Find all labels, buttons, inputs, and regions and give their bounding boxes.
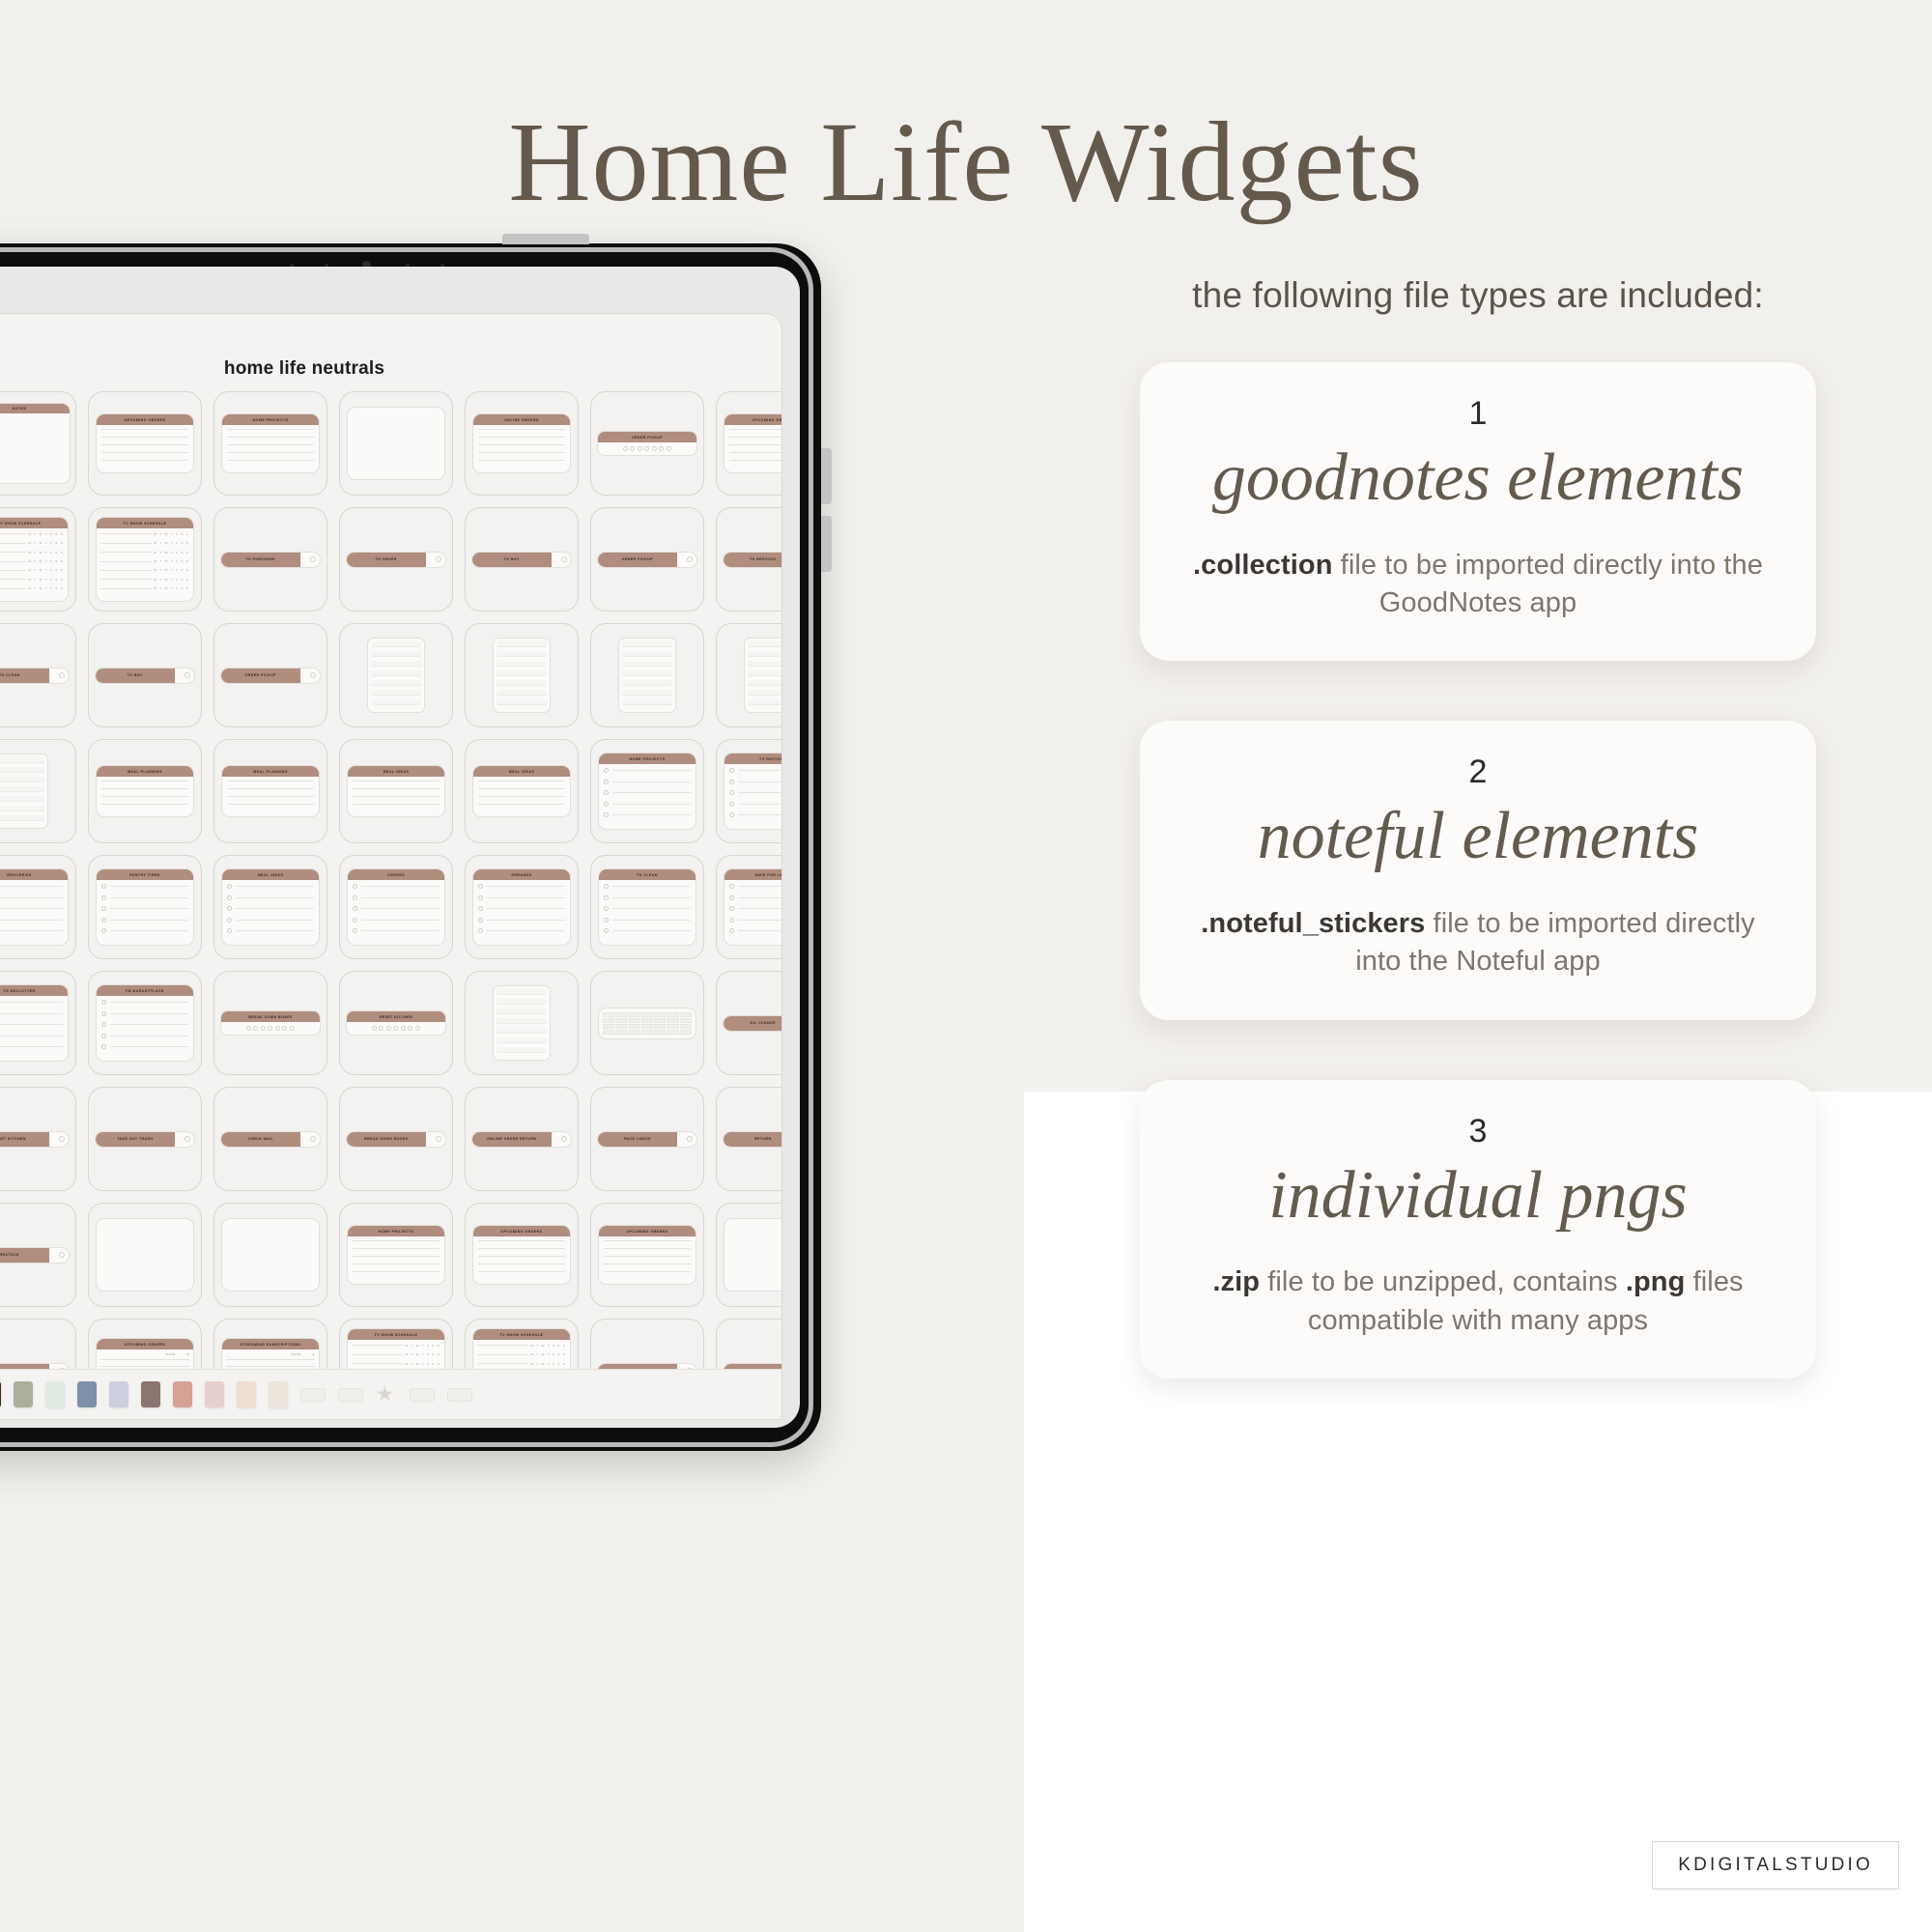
- widget-row: ONLINE ORDERS TO ORDER UPCOMING ORDERS D…: [0, 1319, 781, 1369]
- widget-cell[interactable]: UPCOMING ORDERS: [590, 1203, 704, 1307]
- card-description: .collection file to be imported directly…: [1179, 547, 1777, 623]
- widget-card[interactable]: TV SHOW SCHEDULE M T W T F S SM T W T F …: [472, 1328, 571, 1369]
- card-desc-strong2: .png: [1626, 1266, 1686, 1297]
- widget-grid: NOTES NOTES UPCOMING ORDERS HOME PROJECT…: [0, 387, 781, 1369]
- widget-cell[interactable]: [590, 971, 704, 1075]
- widget-lines: [348, 777, 444, 816]
- swatch-lavender[interactable]: [109, 1381, 128, 1407]
- widget-label: MEAL IDEAS: [222, 869, 319, 880]
- widget-checklist: [724, 880, 781, 945]
- widget-label: ORDER PICKUP: [598, 553, 677, 567]
- widget-card[interactable]: ONLINE ORDERS: [472, 413, 571, 473]
- widget-cell[interactable]: TO CLEAN: [590, 855, 704, 959]
- card-number: 3: [1179, 1113, 1777, 1151]
- widget-checkbox[interactable]: [687, 556, 693, 562]
- star-icon[interactable]: ★: [376, 1384, 397, 1405]
- widget-label: CHORES: [348, 869, 444, 880]
- widget-checkbox[interactable]: [185, 672, 190, 678]
- widget-card[interactable]: STREAMING SUBSCRIPTIONS DATE$: [221, 1338, 320, 1369]
- widget-checkbox[interactable]: [59, 1136, 65, 1142]
- widget-cell[interactable]: TAKE OUT TRASH: [88, 1087, 202, 1191]
- color-toolbar: 1 ★: [0, 1369, 781, 1419]
- widget-cell[interactable]: MEAL PLANNING: [213, 739, 327, 843]
- widget-cell[interactable]: NOTES: [0, 391, 76, 496]
- tablet-volume-down-button[interactable]: [821, 516, 832, 572]
- widget-cell[interactable]: PANTRY ITEMS: [88, 855, 202, 959]
- widget-cell[interactable]: UPCOMING ORDERS DATE$: [88, 1319, 202, 1369]
- widget-card[interactable]: GROCERIES: [0, 868, 69, 945]
- widget-cell[interactable]: TV SHOW SCHEDULE M T W T F S SM T W T F …: [88, 507, 202, 611]
- widget-checklist: [0, 996, 68, 1061]
- card-desc-strong: .zip: [1212, 1266, 1260, 1297]
- widget-label: TO DECLUTTER: [0, 985, 68, 996]
- tablet-screen: home life neutrals NOTES NOTES UPCOMING …: [0, 267, 800, 1428]
- widget-card[interactable]: [96, 1218, 194, 1292]
- widget-checkbox[interactable]: [310, 672, 316, 678]
- widget-schedule: M T W T F S SM T W T F S SM T W T F S SM…: [348, 1340, 444, 1369]
- widget-label: RESTOCK: [0, 1248, 49, 1263]
- widget-lines: [473, 777, 570, 816]
- swatch-sage[interactable]: [14, 1381, 33, 1407]
- widget-card[interactable]: MEAL IDEAS: [472, 765, 571, 817]
- widget-card[interactable]: TV SHOW SCHEDULE M T W T F S SM T W T F …: [0, 517, 69, 601]
- widget-cell[interactable]: RESET KITCHEN: [0, 1087, 76, 1191]
- card-desc-rest: file to be unzipped, contains: [1260, 1266, 1626, 1297]
- widget-cell[interactable]: [0, 739, 76, 843]
- widget-checklist: [97, 880, 193, 945]
- widget-card[interactable]: HOME PROJECTS: [598, 753, 696, 829]
- widget-checklist: [473, 880, 570, 945]
- widget-pill[interactable]: OIL CHANGE: [723, 1015, 781, 1032]
- widget-cell[interactable]: TO CLEAN: [0, 623, 76, 727]
- swatch-slate-blue[interactable]: [77, 1381, 97, 1407]
- card-title: goodnotes elements: [1179, 442, 1777, 514]
- widget-pill[interactable]: BREAK DOWN BOXES: [346, 1131, 446, 1148]
- widget-card[interactable]: UPCOMING ORDERS DATE$: [96, 1338, 194, 1369]
- widget-dots: [347, 1022, 445, 1035]
- widget-card[interactable]: TO CLEAN: [598, 868, 696, 945]
- widget-checkbox[interactable]: [185, 1136, 190, 1142]
- widget-label: UPCOMING ORDERS: [97, 414, 193, 425]
- widget-pill[interactable]: TAKE OUT TRASH: [95, 1131, 195, 1148]
- widget-pill[interactable]: TO RESTOCK: [723, 552, 781, 568]
- widget-card[interactable]: MEAL PLANNING: [96, 765, 194, 817]
- widget-cell[interactable]: TO ORDER: [339, 507, 453, 611]
- widget-checkbox[interactable]: [436, 1136, 441, 1142]
- widget-cell[interactable]: GROCERIES: [0, 855, 76, 959]
- swatch-dusty-rose[interactable]: [173, 1381, 192, 1407]
- widget-cell[interactable]: TO PURCHASE: [213, 507, 327, 611]
- widget-cell[interactable]: TO ORDER: [0, 1319, 76, 1369]
- widget-card[interactable]: UPCOMING ORDERS: [96, 413, 194, 473]
- widget-row: TO BUY GROCERIES PANTRY ITEMS: [0, 855, 781, 959]
- file-type-card-2[interactable]: 2 noteful elements .noteful_stickers fil…: [1140, 721, 1816, 1019]
- window-title: home life neutrals: [0, 358, 781, 380]
- widget-label: ONLINE ORDERS: [473, 414, 570, 425]
- tablet-volume-up-button[interactable]: [821, 448, 832, 504]
- widget-checkbox[interactable]: [310, 556, 316, 562]
- widget-row: WATER PLANTS RESET KITCHEN TAKE OUT TRAS…: [0, 1087, 781, 1191]
- widget-schedule: M T W T F S SM T W T F S SM T W T F S SM…: [0, 528, 68, 601]
- card-number: 2: [1179, 753, 1777, 791]
- widget-card[interactable]: CHORES: [347, 868, 445, 945]
- widget-card[interactable]: [367, 638, 425, 713]
- widget-label: ORDER PICKUP: [598, 432, 696, 441]
- widget-label: OIL CHANGE: [724, 1016, 781, 1031]
- file-type-card-1[interactable]: 1 goodnotes elements .collection file to…: [1140, 362, 1816, 661]
- watermark: KDIGITALSTUDIO: [1652, 1841, 1899, 1889]
- widget-cell[interactable]: ORDER PICKUP: [213, 623, 327, 727]
- widget-label: SAVE FOR LATER: [724, 869, 781, 880]
- widget-label: TO RESTOCK: [724, 553, 781, 567]
- widget-row: PREP DINNER RESTOCK HOME PROJECTS UPCOMI…: [0, 1203, 781, 1307]
- widget-cell[interactable]: CHECK MAIL: [213, 1087, 327, 1191]
- swatch-mauve[interactable]: [141, 1381, 160, 1407]
- widget-pill[interactable]: TO CLEAN: [0, 668, 70, 684]
- card-title: noteful elements: [1179, 801, 1777, 872]
- widget-card[interactable]: PANTRY ITEMS: [96, 868, 194, 945]
- card-description: .zip file to be unzipped, contains .png …: [1179, 1264, 1777, 1340]
- widget-schedule: M T W T F S SM T W T F S SM T W T F S SM…: [473, 1340, 570, 1369]
- widget-cell[interactable]: MEAL IDEAS: [465, 739, 579, 843]
- widget-checkbox[interactable]: [59, 1252, 65, 1258]
- widget-schedule: M T W T F S SM T W T F S SM T W T F S SM…: [97, 528, 193, 601]
- widget-checklist: [222, 880, 319, 945]
- widget-checklist: [599, 880, 696, 945]
- widget-pill[interactable]: PACK LUNCH: [597, 1131, 697, 1148]
- widget-checklist: [599, 764, 696, 829]
- widget-card[interactable]: [724, 1218, 781, 1292]
- widget-lines: [97, 777, 193, 816]
- shape-tool-2[interactable]: [338, 1388, 363, 1402]
- shape-tool-3[interactable]: [410, 1388, 435, 1402]
- swatch-blush[interactable]: [205, 1381, 224, 1407]
- widget-label: TO BUY: [96, 668, 175, 683]
- widget-checkbox[interactable]: [561, 556, 567, 562]
- widget-card[interactable]: ORDER PICKUP: [597, 431, 697, 455]
- widget-card[interactable]: [493, 638, 551, 713]
- widget-row: HOME MAINTENANCE TO DECLUTTER FB MARKETP…: [0, 971, 781, 1075]
- widget-dots: [598, 442, 696, 455]
- widget-cell[interactable]: TV SHOW SCHEDULE M T W T F S SM T W T F …: [339, 1319, 453, 1369]
- widget-label: CHECK MAIL: [221, 1132, 300, 1147]
- widget-cell[interactable]: CHORES: [339, 855, 453, 959]
- widget-card[interactable]: [493, 985, 551, 1061]
- widget-lines: [97, 425, 193, 472]
- widget-label: TV SHOW SCHEDULE: [97, 518, 193, 528]
- widget-label: HOME PROJECTS: [348, 1226, 444, 1236]
- widget-pill[interactable]: RESTOCK: [0, 1247, 70, 1264]
- widget-label: PANTRY ITEMS: [97, 869, 193, 880]
- widget-lines: [599, 1236, 696, 1284]
- card-title: individual pngs: [1179, 1160, 1777, 1232]
- widget-lines: [348, 1236, 444, 1284]
- widget-cell[interactable]: TO BUY: [88, 623, 202, 727]
- widget-pill[interactable]: CHECK MAIL: [220, 1131, 321, 1148]
- widget-label: UPCOMING ORDERS: [599, 1226, 696, 1236]
- widget-lines: [473, 1236, 570, 1284]
- widget-label: ONLINE ORDER RETURN: [472, 1132, 552, 1147]
- widget-cell[interactable]: RESTOCK: [0, 1203, 76, 1307]
- widget-checkbox[interactable]: [561, 1136, 567, 1142]
- widget-cell[interactable]: UPCOMING ORDERS: [465, 1203, 579, 1307]
- widget-checklist: [348, 880, 444, 945]
- widget-pill[interactable]: RESET KITCHEN: [0, 1131, 70, 1148]
- widget-card[interactable]: HOME PROJECTS: [347, 1225, 445, 1285]
- widget-cell[interactable]: PACK LUNCH: [590, 1087, 704, 1191]
- widget-card[interactable]: FB MARKETPLACE: [96, 984, 194, 1061]
- widget-card[interactable]: [0, 753, 48, 829]
- widget-table: DATE$: [222, 1350, 319, 1369]
- card-desc-strong: .noteful_stickers: [1201, 908, 1425, 939]
- widget-lines: [724, 425, 781, 472]
- widget-label: TV SHOW SCHEDULE: [473, 1329, 570, 1340]
- widget-label: ERRANDS: [473, 869, 570, 880]
- widget-pill[interactable]: TO BUY: [95, 668, 195, 684]
- widget-cell[interactable]: ORDER PICKUP: [590, 391, 704, 496]
- widget-cell[interactable]: [590, 623, 704, 727]
- widget-cell[interactable]: TO BUY: [590, 1319, 704, 1369]
- widget-label: MEAL PLANNING: [222, 766, 319, 777]
- widget-cell[interactable]: BREAK DOWN BOXES: [339, 1087, 453, 1191]
- widget-label: TAKE OUT TRASH: [96, 1132, 175, 1147]
- widget-label: UPCOMING ORDERS: [473, 1226, 570, 1236]
- widget-cell[interactable]: ONLINE ORDER RETURN: [465, 1087, 579, 1191]
- page-title: Home Life Widgets: [0, 97, 1932, 228]
- widget-cell[interactable]: MEAL IDEAS: [213, 855, 327, 959]
- widget-cell[interactable]: HOME PROJECTS: [590, 739, 704, 843]
- widget-cell[interactable]: [339, 391, 453, 496]
- widget-row: NOTES NOTES UPCOMING ORDERS HOME PROJECT…: [0, 391, 781, 496]
- widget-cell[interactable]: [716, 623, 781, 727]
- widget-cell[interactable]: TO DECLUTTER: [0, 971, 76, 1075]
- widget-label: TO BUY: [472, 553, 552, 567]
- widget-lines: [222, 425, 319, 472]
- swatch-peach[interactable]: [237, 1381, 256, 1407]
- widget-pill[interactable]: TO ORDER: [346, 552, 446, 568]
- card-number: 1: [1179, 395, 1777, 433]
- file-types-panel: the following file types are included: 1…: [1140, 275, 1816, 1438]
- swatch-espresso[interactable]: [0, 1381, 1, 1407]
- widget-label: TV SHOW SCHEDULE: [0, 518, 68, 528]
- widget-cell[interactable]: OIL CHANGE: [716, 971, 781, 1075]
- widget-cell[interactable]: TO RESTOCK: [716, 507, 781, 611]
- widget-card[interactable]: TO DECLUTTER: [0, 984, 69, 1061]
- window-titlebar: home life neutrals: [0, 314, 781, 387]
- widget-cell[interactable]: RETURN: [716, 1087, 781, 1191]
- widget-label: STREAMING SUBSCRIPTIONS: [222, 1339, 319, 1350]
- widget-card[interactable]: [347, 407, 445, 480]
- widget-cell[interactable]: TV SHOW SCHEDULE M T W T F S SM T W T F …: [0, 507, 76, 611]
- widget-card[interactable]: MEAL IDEAS: [347, 765, 445, 817]
- widget-label: TO CLEAN: [599, 869, 696, 880]
- widget-calendar: [599, 1009, 696, 1038]
- widget-card[interactable]: MEAL PLANNING: [221, 765, 320, 817]
- widget-card[interactable]: TV SHOW SCHEDULE M T W T F S SM T W T F …: [347, 1328, 445, 1369]
- widget-label: TO PURCHASE: [221, 553, 300, 567]
- widget-cell[interactable]: ORDER PICKUP: [590, 507, 704, 611]
- widget-label: MEAL PLANNING: [97, 766, 193, 777]
- widget-label: NOTES: [0, 404, 70, 414]
- widget-label: RETURN: [724, 1132, 781, 1147]
- widget-checklist: [0, 880, 68, 945]
- widget-checklist: [724, 764, 781, 829]
- widget-cell[interactable]: ONLINE ORDERS: [465, 391, 579, 496]
- widget-label: ORDER PICKUP: [221, 668, 300, 683]
- widget-label: PACK LUNCH: [598, 1132, 677, 1147]
- widget-checkbox[interactable]: [436, 556, 441, 562]
- widget-checkbox[interactable]: [310, 1136, 316, 1142]
- card-description: .noteful_stickers file to be imported di…: [1179, 905, 1777, 981]
- widget-cell[interactable]: TO RESTOCK: [716, 739, 781, 843]
- widget-pill[interactable]: ORDER PICKUP: [597, 552, 697, 568]
- widget-cell[interactable]: UPCOMING ORDERS: [88, 391, 202, 496]
- card-desc-strong: .collection: [1193, 550, 1333, 581]
- widget-label: TO ORDER: [347, 553, 426, 567]
- widget-label: MEAL IDEAS: [348, 766, 444, 777]
- widget-lines: [222, 777, 319, 816]
- widget-cell[interactable]: MEAL PLANNING: [88, 739, 202, 843]
- widget-card[interactable]: UPCOMING ORDERS: [724, 413, 781, 473]
- widget-card[interactable]: SAVE FOR LATER: [724, 868, 781, 945]
- widget-pill[interactable]: ORDER PICKUP: [220, 668, 321, 684]
- widget-card[interactable]: BREAK DOWN BOXES: [220, 1010, 321, 1035]
- widget-card[interactable]: [618, 638, 676, 713]
- widget-card[interactable]: ERRANDS: [472, 868, 571, 945]
- widget-pill[interactable]: TO PURCHASE: [220, 552, 321, 568]
- widget-cell[interactable]: [339, 623, 453, 727]
- file-type-card-3[interactable]: 3 individual pngs .zip file to be unzipp…: [1140, 1080, 1816, 1378]
- widget-checkbox[interactable]: [59, 672, 65, 678]
- widget-table: DATE$: [97, 1350, 193, 1369]
- widget-card[interactable]: UPCOMING ORDERS: [598, 1225, 696, 1285]
- widget-row: MEAL PLANNING MEAL PLANNING MEAL IDEAS M…: [0, 739, 781, 843]
- shape-tool-4[interactable]: [447, 1388, 472, 1402]
- widget-label: MEAL IDEAS: [473, 766, 570, 777]
- widget-card[interactable]: MEAL IDEAS: [221, 868, 320, 945]
- widget-card[interactable]: TV SHOW SCHEDULE M T W T F S SM T W T F …: [96, 517, 194, 601]
- shape-tool-1[interactable]: [300, 1388, 326, 1402]
- widget-checklist: [97, 996, 193, 1061]
- card-desc-rest: file to be imported directly into the Go…: [1333, 550, 1763, 618]
- widget-label: GROCERIES: [0, 869, 68, 880]
- widget-card[interactable]: [221, 1218, 320, 1292]
- widget-label: RESET KITCHEN: [0, 1132, 49, 1147]
- widget-card[interactable]: [744, 638, 781, 713]
- widget-cell[interactable]: BREAK DOWN BOXES: [213, 971, 327, 1075]
- widget-card[interactable]: NOTES: [0, 403, 71, 485]
- widget-pill[interactable]: ONLINE ORDER RETURN: [471, 1131, 572, 1148]
- widget-card[interactable]: UPCOMING ORDERS: [472, 1225, 571, 1285]
- widget-dots: [221, 1022, 320, 1035]
- widget-cell[interactable]: TV SHOW SCHEDULE M T W T F S SM T W T F …: [465, 1319, 579, 1369]
- widget-card[interactable]: TO RESTOCK: [724, 753, 781, 829]
- widget-row: STREAMING SUBSCRIPTIONS DATE$ TV SHOW SC…: [0, 507, 781, 611]
- widget-label: TO CLEAN: [0, 668, 49, 683]
- widget-label: UPCOMING ORDERS: [97, 1339, 193, 1350]
- swatch-ice[interactable]: [45, 1381, 65, 1407]
- widget-checkbox[interactable]: [687, 1136, 693, 1142]
- widget-cell[interactable]: ERRANDS: [465, 855, 579, 959]
- widget-label: BREAK DOWN BOXES: [347, 1132, 426, 1147]
- widget-label: BREAK DOWN BOXES: [221, 1011, 320, 1021]
- widget-label: HOME PROJECTS: [599, 753, 696, 764]
- widget-lines: [473, 425, 570, 472]
- widget-cell[interactable]: [465, 971, 579, 1075]
- widget-row: TO PURCHASE TO CLEAN TO BUY ORDER PICKUP: [0, 623, 781, 727]
- widget-pill[interactable]: TO BUY: [471, 552, 572, 568]
- widget-pill[interactable]: RETURN: [723, 1131, 781, 1148]
- tablet-power-button[interactable]: [502, 234, 589, 244]
- panel-lead-text: the following file types are included:: [1140, 275, 1816, 316]
- widget-cell[interactable]: HOME PROJECTS: [213, 391, 327, 496]
- widget-cell[interactable]: MEAL IDEAS: [339, 739, 453, 843]
- widget-cell[interactable]: SAVE FOR LATER: [716, 855, 781, 959]
- widget-card[interactable]: HOME PROJECTS: [221, 413, 320, 473]
- widget-card[interactable]: [598, 1008, 696, 1039]
- widget-label: RESET KITCHEN: [347, 1011, 445, 1021]
- widget-label: TV SHOW SCHEDULE: [348, 1329, 444, 1340]
- widget-cell[interactable]: [465, 623, 579, 727]
- widget-cell[interactable]: [213, 1203, 327, 1307]
- app-window: home life neutrals NOTES NOTES UPCOMING …: [0, 313, 782, 1420]
- widget-cell[interactable]: STREAMING SUBSCRIPTIONS DATE$: [213, 1319, 327, 1369]
- widget-cell[interactable]: HOME PROJECTS: [339, 1203, 453, 1307]
- widget-label: FB MARKETPLACE: [97, 985, 193, 996]
- widget-card[interactable]: RESET KITCHEN: [346, 1010, 446, 1035]
- widget-cell[interactable]: UPCOMING ORDERS: [716, 391, 781, 496]
- widget-label: HOME PROJECTS: [222, 414, 319, 425]
- swatch-bone[interactable]: [269, 1381, 288, 1407]
- widget-cell[interactable]: TO BUY: [465, 507, 579, 611]
- widget-cell[interactable]: [88, 1203, 202, 1307]
- widget-label: UPCOMING ORDERS: [724, 414, 781, 425]
- widget-cell[interactable]: [716, 1203, 781, 1307]
- widget-cell[interactable]: TO CLEAN: [716, 1319, 781, 1369]
- widget-cell[interactable]: RESET KITCHEN: [339, 971, 453, 1075]
- tablet-device: home life neutrals NOTES NOTES UPCOMING …: [0, 243, 821, 1451]
- widget-cell[interactable]: FB MARKETPLACE: [88, 971, 202, 1075]
- widget-label: TO RESTOCK: [724, 753, 781, 764]
